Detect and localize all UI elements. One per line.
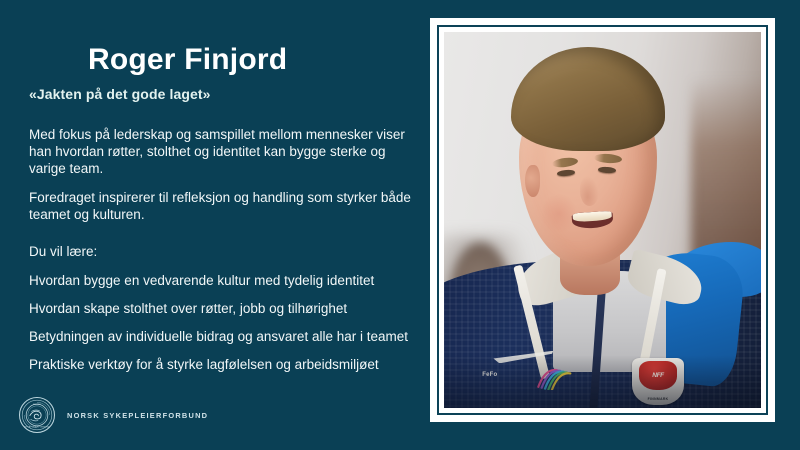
photo-bottom-shadow — [444, 355, 761, 408]
photo-eyebrow-left — [552, 156, 579, 168]
learning-outcomes-lead: Du vil lære: — [29, 243, 429, 260]
svg-text:NORSK: NORSK — [33, 404, 41, 406]
nsf-seal-icon: NORSK SYKEPLEIERFORBUND — [18, 396, 56, 434]
photo-head — [504, 47, 672, 273]
photo-ear — [525, 165, 540, 197]
description-block: Med fokus på lederskap og samspillet mel… — [29, 126, 425, 223]
list-item: Praktiske verktøy for å styrke lagfølels… — [29, 356, 429, 373]
photo-eye-left — [556, 169, 574, 177]
slide-root: Roger Finjord «Jakten på det gode laget»… — [0, 0, 800, 450]
page-title: Roger Finjord — [88, 44, 287, 76]
portrait-frame: FeFo — [430, 18, 775, 422]
description-paragraph: Med fokus på lederskap og samspillet mel… — [29, 126, 425, 177]
footer-organization-label: NORSK SYKEPLEIERFORBUND — [67, 411, 208, 420]
learning-outcomes-block: Du vil lære: Hvordan bygge en vedvarende… — [29, 243, 429, 373]
photo-teeth — [572, 210, 611, 222]
frame-inner-border: FeFo — [437, 25, 768, 415]
description-paragraph: Foredraget inspirerer til refleksjon og … — [29, 189, 425, 223]
content-column: Roger Finjord «Jakten på det gode laget»… — [0, 0, 432, 450]
photo-nose — [580, 176, 599, 207]
photo-eyebrow-right — [593, 153, 621, 164]
list-item: Betydningen av individuelle bidrag og an… — [29, 328, 429, 345]
photo-cheek — [541, 194, 577, 234]
photo-hair — [511, 47, 666, 151]
list-item: Hvordan skape stolthet over røtter, jobb… — [29, 300, 429, 317]
list-item: Hvordan bygge en vedvarende kultur med t… — [29, 272, 429, 289]
photo-mouth — [571, 210, 613, 229]
svg-text:SYKEPLEIERFORBUND: SYKEPLEIERFORBUND — [24, 427, 49, 429]
photo-eye-right — [598, 167, 616, 174]
footer-branding: NORSK SYKEPLEIERFORBUND NORSK SYKEPLEIER… — [18, 396, 208, 434]
page-subtitle: «Jakten på det gode laget» — [29, 86, 211, 102]
portrait-photo: FeFo — [444, 32, 761, 408]
learning-outcomes-list: Hvordan bygge en vedvarende kultur med t… — [29, 272, 429, 373]
